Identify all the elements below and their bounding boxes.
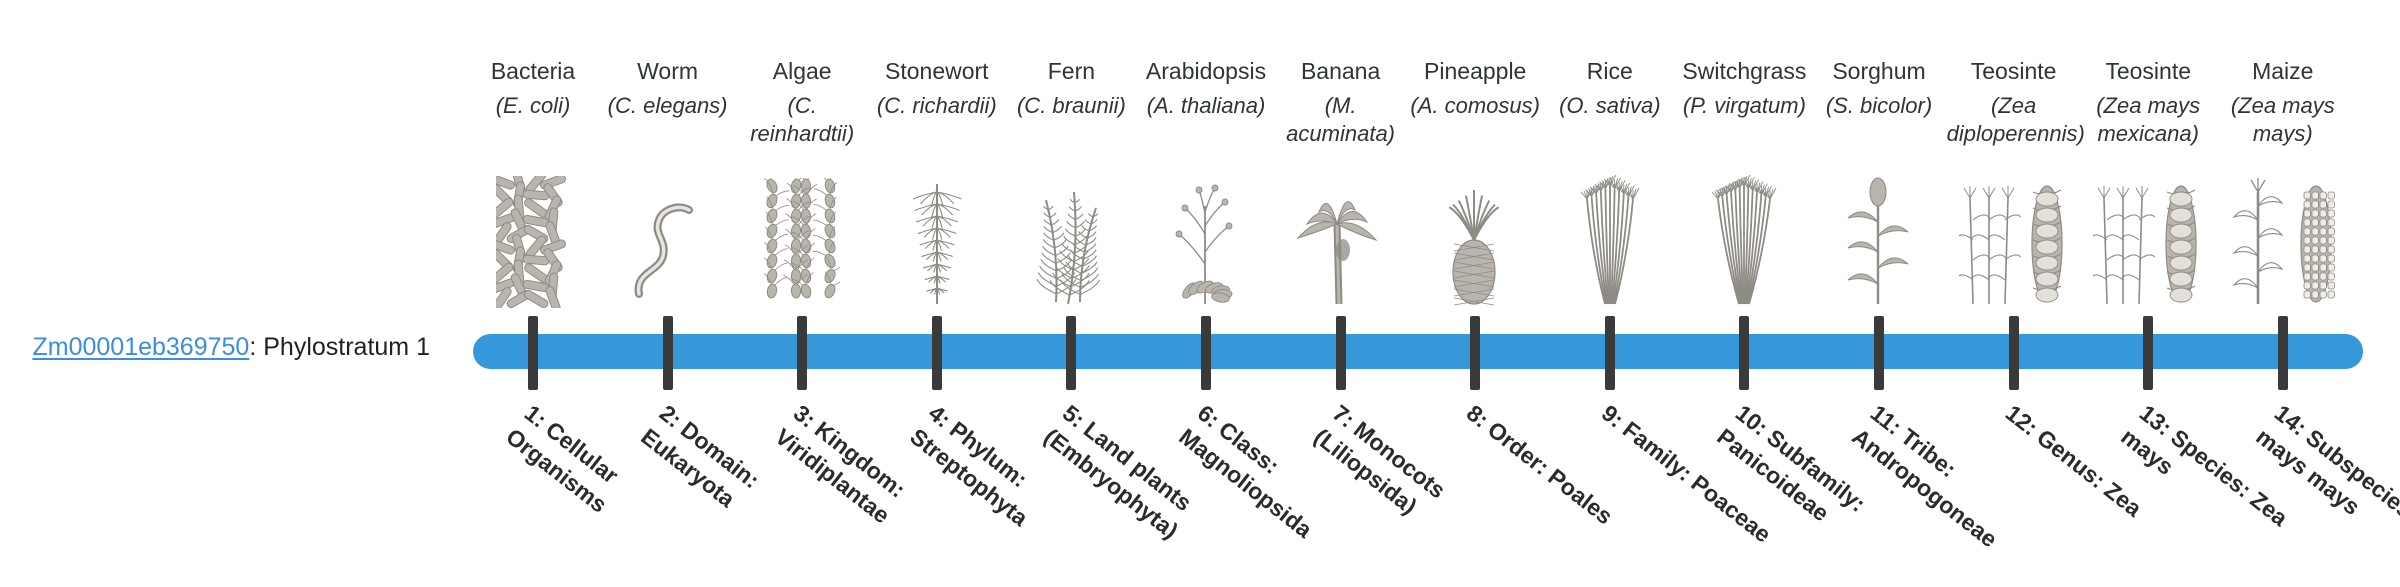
species-caption: Banana(M. acuminata) xyxy=(1274,56,1408,148)
species-caption: Worm(C. elegans) xyxy=(601,56,735,120)
species-common-name: Switchgrass xyxy=(1677,56,1811,86)
species-caption: Switchgrass(P. virgatum) xyxy=(1677,56,1811,120)
gene-accession-link[interactable]: Zm00001eb369750 xyxy=(32,333,249,361)
phylostratum-tick[interactable] xyxy=(1201,316,1211,390)
species-latin-name: (P. virgatum) xyxy=(1677,92,1811,120)
gene-label-separator: : xyxy=(249,333,263,361)
switchgrass-icon xyxy=(1682,168,1806,308)
teosinte-plant-and-ear-icon xyxy=(2086,168,2210,308)
species-common-name: Maize xyxy=(2216,56,2350,86)
species-caption: Arabidopsis(A. thaliana) xyxy=(1139,56,1273,120)
species-latin-name: (S. bicolor) xyxy=(1812,92,1946,120)
species-common-name: Arabidopsis xyxy=(1139,56,1273,86)
rice-plant-icon xyxy=(1548,168,1672,308)
sorghum-plant-icon xyxy=(1817,168,1941,308)
gene-phylostratum-value: Phylostratum 1 xyxy=(263,333,430,361)
species-latin-name: (Zea mays mays) xyxy=(2216,92,2350,148)
phylostratum-tick[interactable] xyxy=(1336,316,1346,390)
species-latin-name: (O. sativa) xyxy=(1543,92,1677,120)
species-common-name: Banana xyxy=(1274,56,1408,86)
species-common-name: Pineapple xyxy=(1408,56,1542,86)
arabidopsis-rosette-icon xyxy=(1144,168,1268,308)
fern-frond-icon xyxy=(1009,168,1133,308)
phylostratum-tick[interactable] xyxy=(2278,316,2288,390)
green-algae-cells-icon xyxy=(740,168,864,308)
phylostratum-bar xyxy=(473,334,2363,369)
species-common-name: Algae xyxy=(735,56,869,86)
species-common-name: Rice xyxy=(1543,56,1677,86)
species-caption: Algae(C. reinhardtii) xyxy=(735,56,869,148)
phylostratum-tick[interactable] xyxy=(1470,316,1480,390)
species-latin-name: (A. thaliana) xyxy=(1139,92,1273,120)
species-common-name: Teosinte xyxy=(1947,56,2081,86)
bacteria-rods-icon xyxy=(471,168,595,308)
phylostratum-tick[interactable] xyxy=(1605,316,1615,390)
species-common-name: Teosinte xyxy=(2081,56,2215,86)
species-latin-name: (C. richardii) xyxy=(870,92,1004,120)
species-latin-name: (Zea diploperennis) xyxy=(1947,92,2081,148)
banana-plant-icon xyxy=(1279,168,1403,308)
gene-phylostratum-label: Zm00001eb369750: Phylostratum 1 xyxy=(0,332,430,362)
species-common-name: Fern xyxy=(1004,56,1138,86)
species-caption: Fern(C. braunii) xyxy=(1004,56,1138,120)
species-common-name: Worm xyxy=(601,56,735,86)
species-caption: Bacteria(E. coli) xyxy=(466,56,600,120)
species-common-name: Stonewort xyxy=(870,56,1004,86)
species-caption: Sorghum(S. bicolor) xyxy=(1812,56,1946,120)
phylostratum-tick[interactable] xyxy=(663,316,673,390)
species-caption: Rice(O. sativa) xyxy=(1543,56,1677,120)
maize-plant-and-cob-icon xyxy=(2221,168,2345,308)
species-common-name: Bacteria xyxy=(466,56,600,86)
species-caption: Maize(Zea mays mays) xyxy=(2216,56,2350,148)
stonewort-alga-icon xyxy=(875,168,999,308)
species-caption: Teosinte(Zea mays mexicana) xyxy=(2081,56,2215,148)
species-caption: Pineapple(A. comosus) xyxy=(1408,56,1542,120)
species-caption: Stonewort(C. richardii) xyxy=(870,56,1004,120)
phylostratum-tick[interactable] xyxy=(1874,316,1884,390)
species-latin-name: (C. braunii) xyxy=(1004,92,1138,120)
phylostratum-tick[interactable] xyxy=(1739,316,1749,390)
species-latin-name: (M. acuminata) xyxy=(1274,92,1408,148)
species-latin-name: (Zea mays mexicana) xyxy=(2081,92,2215,148)
phylostratum-tick[interactable] xyxy=(528,316,538,390)
teosinte-plant-and-ear-icon xyxy=(1952,168,2076,308)
phylostratum-tick[interactable] xyxy=(2009,316,2019,390)
species-caption: Teosinte(Zea diploperennis) xyxy=(1947,56,2081,148)
species-latin-name: (E. coli) xyxy=(466,92,600,120)
phylostratum-tick[interactable] xyxy=(932,316,942,390)
nematode-worm-icon xyxy=(606,168,730,308)
phylostratum-tick[interactable] xyxy=(797,316,807,390)
pineapple-icon xyxy=(1413,168,1537,308)
phylostratum-tick[interactable] xyxy=(2143,316,2153,390)
phylostratum-tick[interactable] xyxy=(1066,316,1076,390)
species-latin-name: (C. elegans) xyxy=(601,92,735,120)
species-common-name: Sorghum xyxy=(1812,56,1946,86)
phylostratigraphy-timeline: Bacteria(E. coli)1: Cellular OrganismsWo… xyxy=(473,0,2363,580)
species-latin-name: (C. reinhardtii) xyxy=(735,92,869,148)
species-latin-name: (A. comosus) xyxy=(1408,92,1542,120)
